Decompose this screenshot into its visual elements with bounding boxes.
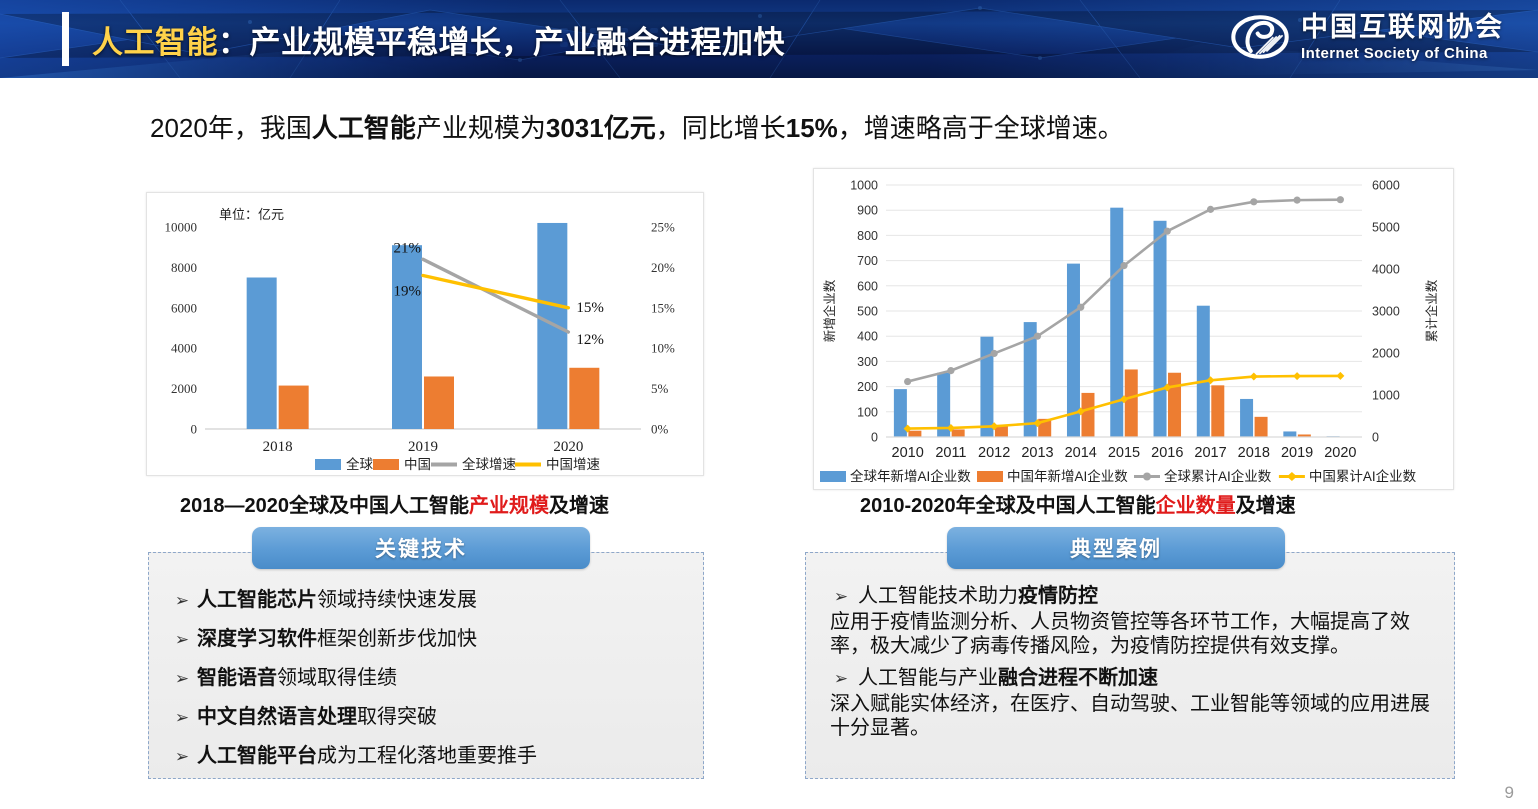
svg-text:10%: 10% [651,341,675,356]
svg-text:100: 100 [857,405,878,419]
svg-text:400: 400 [857,330,878,344]
y-axis-title-left: 新增企业数 [822,279,837,342]
legend-label-全球年新增AI企业数: 全球年新增AI企业数 [850,468,971,484]
svg-text:10000: 10000 [165,220,198,235]
page-title-highlight: 人工智能 [92,17,218,62]
bullet-arrow-icon: ➢ [167,747,197,767]
panel-typical-cases-header: 典型案例 [947,527,1285,569]
slide-header: 人工智能：产业规模平稳增长，产业融合进程加快 中国互联网协会 Internet … [0,0,1538,78]
x-tick-2010: 2010 [892,445,924,461]
key-technology-text: 智能语音领域取得佳绩 [197,661,397,690]
svg-text:8000: 8000 [171,260,197,275]
bar-中国年新增AI企业数-2014 [1081,393,1094,437]
svg-text:6000: 6000 [1372,179,1400,193]
key-technologies-list: ➢人工智能芯片领域持续快速发展➢深度学习软件框架创新步伐加快➢智能语音领域取得佳… [149,553,703,778]
marker-全球累计AI企业数-2011 [947,367,954,374]
chart-industry-scale-canvas: 单位：亿元02000400060008000100000%5%10%15%20%… [147,193,705,477]
bar-全球年新增AI企业数-2018 [1240,399,1253,437]
svg-text:0: 0 [191,422,198,437]
marker-全球累计AI企业数-2019 [1293,197,1300,204]
summary-sentence: 2020年，我国人工智能产业规模为3031亿元，同比增长15%，增速略高于全球增… [150,108,1450,145]
legend-label-中国年新增AI企业数: 中国年新增AI企业数 [1007,468,1128,484]
bar-中国年新增AI企业数-2016 [1168,373,1181,437]
panel-typical-cases: ➢人工智能技术助力疫情防控应用于疫情监测分析、人员物资管控等各环节工作，大幅提高… [805,552,1455,779]
x-tick-2015: 2015 [1108,445,1140,461]
panel-left-header-label: 关键技术 [375,533,467,563]
svg-text:500: 500 [857,305,878,319]
bar-全球-2018 [247,278,277,430]
marker-中国累计AI企业数-2020 [1336,372,1344,380]
x-tick-2018: 2018 [1238,445,1270,461]
summary-bold-3: 15% [786,113,838,143]
legend-swatch-中国 [373,459,399,470]
bullet-arrow-icon: ➢ [824,669,858,689]
svg-text:20%: 20% [651,260,675,275]
bar-全球年新增AI企业数-2019 [1283,431,1296,437]
svg-text:1000: 1000 [850,179,878,193]
legend-label-全球: 全球 [346,456,373,472]
key-technology-item: ➢人工智能平台成为工程化落地重要推手 [167,739,685,768]
header-accent-bar [62,12,69,66]
summary-bold-1: 人工智能 [312,113,416,143]
summary-part-4: ，增速略高于全球增速。 [838,113,1124,143]
bullet-arrow-icon: ➢ [167,591,197,611]
marker-中国累计AI企业数-2018 [1250,373,1258,381]
svg-text:19%: 19% [394,283,422,299]
svg-text:0: 0 [1372,431,1379,445]
typical-case-heading-bold: 融合进程不断加速 [998,667,1158,689]
caption-ai-company-count: 2010-2020年全球及中国人工智能企业数量及增速 [860,489,1296,518]
typical-cases-list: ➢人工智能技术助力疫情防控应用于疫情监测分析、人员物资管控等各环节工作，大幅提高… [806,553,1454,743]
svg-text:2000: 2000 [171,381,197,396]
svg-text:15%: 15% [651,300,675,315]
svg-text:800: 800 [857,229,878,243]
panel-right-header-label: 典型案例 [1070,533,1162,563]
summary-part-3: ，同比增长 [656,113,786,143]
bullet-arrow-icon: ➢ [824,587,858,607]
legend-label-全球增速: 全球增速 [462,456,516,472]
y-axis-title-right: 累计企业数 [1424,279,1439,342]
logo-chinese-name: 中国互联网协会 [1301,14,1504,41]
x-tick-2019: 2019 [408,439,438,455]
bullet-arrow-icon: ➢ [167,708,197,728]
typical-case-heading-text: 人工智能与产业融合进程不断加速 [858,661,1158,690]
legend-label-中国增速: 中国增速 [546,457,600,472]
svg-text:200: 200 [857,380,878,394]
bar-全球-2020 [537,223,567,429]
typical-case-heading: ➢人工智能技术助力疫情防控 [824,579,1436,608]
key-technology-item: ➢深度学习软件框架创新步伐加快 [167,622,685,651]
key-technology-bold: 人工智能平台 [197,745,317,767]
legend-swatch-中国年新增AI企业数 [977,471,1003,482]
marker-全球累计AI企业数-2017 [1207,206,1214,213]
caption-left-red: 产业规模 [469,495,549,517]
marker-全球累计AI企业数-2018 [1250,198,1257,205]
bullet-arrow-icon: ➢ [167,630,197,650]
x-tick-2019: 2019 [1281,445,1313,461]
typical-case-heading: ➢人工智能与产业融合进程不断加速 [824,661,1436,690]
marker-中国累计AI企业数-2019 [1293,372,1301,380]
legend-label-中国: 中国 [404,457,431,472]
key-technology-item: ➢人工智能芯片领域持续快速发展 [167,583,685,612]
caption-right-pre: 2010-2020年全球及中国人工智能 [860,495,1156,517]
summary-bold-2: 3031亿元 [546,113,656,143]
legend-swatch-全球 [315,459,341,470]
marker-全球累计AI企业数-2015 [1120,262,1127,269]
chart-ai-company-count: 0100200300400500600700800900100001000200… [813,168,1454,490]
typical-case-body: 应用于疫情监测分析、人员物资管控等各环节工作，大幅提高了效率，极大减少了病毒传播… [830,610,1436,659]
key-technology-text: 人工智能平台成为工程化落地重要推手 [197,739,537,768]
marker-全球累计AI企业数-2010 [904,378,911,385]
svg-text:2000: 2000 [1372,347,1400,361]
key-technology-item: ➢智能语音领域取得佳绩 [167,661,685,690]
x-tick-2011: 2011 [935,445,966,461]
svg-text:900: 900 [857,204,878,218]
bar-中国年新增AI企业数-2011 [952,429,965,437]
bar-中国-2018 [279,386,309,429]
svg-text:6000: 6000 [171,300,197,315]
x-tick-2020: 2020 [1324,445,1356,461]
legend-swatch-全球年新增AI企业数 [820,471,846,482]
marker-全球累计AI企业数-2012 [991,350,998,357]
slide-root: 人工智能：产业规模平稳增长，产业融合进程加快 中国互联网协会 Internet … [0,0,1538,809]
marker-全球累计AI企业数-2016 [1164,228,1171,235]
line-全球累计AI企业数 [908,200,1341,382]
typical-case-heading-bold: 疫情防控 [1018,585,1098,607]
bar-中国-2020 [569,368,599,429]
panel-key-technologies: ➢人工智能芯片领域持续快速发展➢深度学习软件框架创新步伐加快➢智能语音领域取得佳… [148,552,704,779]
svg-text:25%: 25% [651,220,675,235]
svg-text:3000: 3000 [1372,305,1400,319]
svg-text:单位：亿元: 单位：亿元 [219,207,284,222]
isc-emblem-icon [1231,8,1289,66]
key-technology-bold: 深度学习软件 [197,628,317,650]
summary-part-2: 产业规模为 [416,113,546,143]
svg-text:0%: 0% [651,422,669,437]
key-technology-text: 深度学习软件框架创新步伐加快 [197,622,477,651]
bar-中国年新增AI企业数-2010 [908,431,921,437]
bar-中国年新增AI企业数-2017 [1211,385,1224,437]
svg-text:4000: 4000 [1372,263,1400,277]
caption-left-pre: 2018—2020全球及中国人工智能 [180,495,469,517]
bar-中国年新增AI企业数-2018 [1255,417,1268,437]
caption-left-post: 及增速 [549,495,609,517]
organization-logo: 中国互联网协会 Internet Society of China [1231,8,1504,66]
svg-text:300: 300 [857,355,878,369]
chart-ai-company-count-canvas: 0100200300400500600700800900100001000200… [814,169,1455,491]
bar-中国-2019 [424,376,454,429]
page-title: 人工智能：产业规模平稳增长，产业融合进程加快 [92,14,785,64]
typical-case-body: 深入赋能实体经济，在医疗、自动驾驶、工业智能等领域的应用进展十分显著。 [830,692,1436,741]
bar-全球年新增AI企业数-2017 [1197,306,1210,437]
page-title-rest: ：产业规模平稳增长，产业融合进程加快 [218,17,785,62]
x-tick-2014: 2014 [1065,445,1097,461]
svg-text:21%: 21% [394,240,422,256]
svg-text:12%: 12% [576,332,604,348]
svg-text:5000: 5000 [1372,221,1400,235]
bar-全球-2019 [392,245,422,429]
bar-全球年新增AI企业数-2016 [1154,221,1167,437]
summary-part-1: 2020年，我国 [150,113,312,143]
bar-中国年新增AI企业数-2015 [1125,369,1138,437]
svg-text:0: 0 [871,431,878,445]
x-tick-2013: 2013 [1021,445,1053,461]
x-tick-2020: 2020 [553,439,583,455]
logo-english-name: Internet Society of China [1301,46,1504,61]
marker-全球累计AI企业数-2013 [1034,333,1041,340]
marker-全球累计AI企业数-2020 [1337,196,1344,203]
marker-全球累计AI企业数-2014 [1077,304,1084,311]
legend-label-全球累计AI企业数: 全球累计AI企业数 [1164,468,1272,484]
svg-text:4000: 4000 [171,341,197,356]
key-technology-item: ➢中文自然语言处理取得突破 [167,700,685,729]
caption-industry-scale: 2018—2020全球及中国人工智能产业规模及增速 [180,489,609,518]
x-tick-2018: 2018 [263,439,293,455]
key-technology-bold: 智能语音 [197,667,277,689]
key-technology-text: 人工智能芯片领域持续快速发展 [197,583,477,612]
bullet-arrow-icon: ➢ [167,669,197,689]
page-number: 9 [1505,783,1514,803]
svg-text:600: 600 [857,279,878,293]
caption-right-red: 企业数量 [1156,495,1236,517]
key-technology-bold: 中文自然语言处理 [197,706,357,728]
legend-label-中国累计AI企业数: 中国累计AI企业数 [1309,468,1417,484]
x-tick-2012: 2012 [978,445,1010,461]
typical-case-heading-text: 人工智能技术助力疫情防控 [858,579,1098,608]
chart-industry-scale: 单位：亿元02000400060008000100000%5%10%15%20%… [146,192,704,476]
caption-right-post: 及增速 [1236,495,1296,517]
svg-text:5%: 5% [651,381,669,396]
svg-text:1000: 1000 [1372,389,1400,403]
svg-text:15%: 15% [576,300,604,316]
panel-key-technologies-header: 关键技术 [252,527,590,569]
key-technology-text: 中文自然语言处理取得突破 [197,700,437,729]
x-tick-2017: 2017 [1194,445,1226,461]
svg-text:700: 700 [857,254,878,268]
x-tick-2016: 2016 [1151,445,1183,461]
key-technology-bold: 人工智能芯片 [197,589,317,611]
